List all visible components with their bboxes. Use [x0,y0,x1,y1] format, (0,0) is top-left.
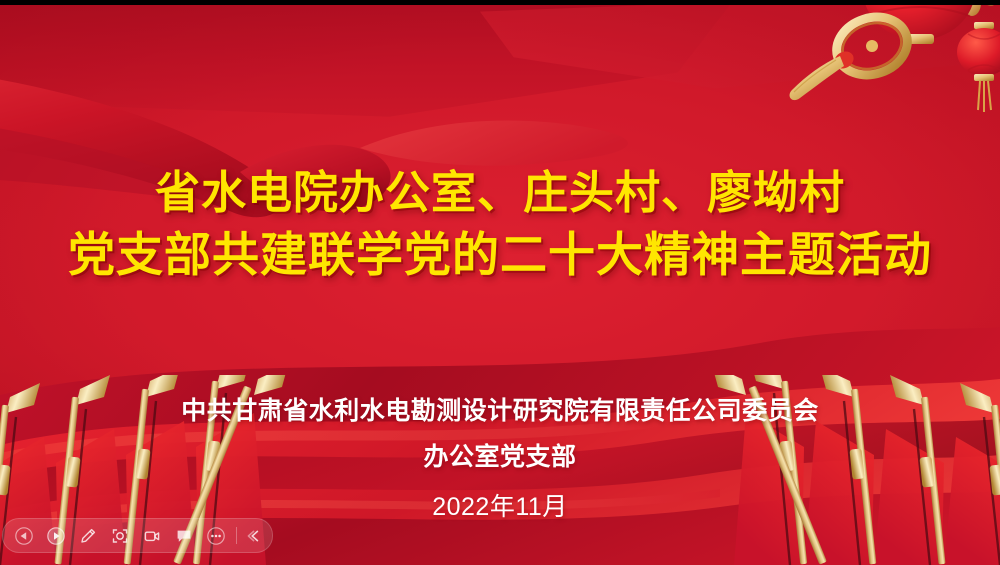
chevron-double-left-icon [246,527,264,545]
record-video-button[interactable] [137,521,166,550]
pen-annotate-button[interactable] [73,521,102,550]
organization-block: 中共甘肃省水利水电勘测设计研究院有限责任公司委员会 办公室党支部 [0,388,1000,480]
camera-icon [143,527,161,545]
play-slide-button[interactable] [41,521,70,550]
previous-slide-button[interactable] [9,521,38,550]
presentation-slide: 省水电院办公室、庄头村、廖坳村 党支部共建联学党的二十大精神主题活动 中共甘肃省… [0,0,1000,565]
triangle-left-icon [20,532,26,540]
letterbox-bar [0,0,1000,5]
crosshair-frame-icon [111,527,129,545]
zoom-region-button[interactable] [105,521,134,550]
more-options-button[interactable] [201,521,230,550]
slide-title: 省水电院办公室、庄头村、廖坳村 党支部共建联学党的二十大精神主题活动 [0,162,1000,286]
title-line-1: 省水电院办公室、庄头村、廖坳村 [0,162,1000,224]
speech-bubble-icon [175,527,193,545]
title-line-2: 党支部共建联学党的二十大精神主题活动 [0,224,1000,286]
organization-line-1: 中共甘肃省水利水电勘测设计研究院有限责任公司委员会 [0,388,1000,434]
toolbar-divider [236,527,237,544]
comment-button[interactable] [169,521,198,550]
player-control-bar[interactable] [2,518,273,553]
lantern-decoration [780,0,1000,137]
collapse-toolbar-button[interactable] [242,521,268,550]
organization-line-2: 办公室党支部 [0,434,1000,480]
ellipsis-circle-icon [211,534,221,537]
pen-icon [79,527,97,545]
